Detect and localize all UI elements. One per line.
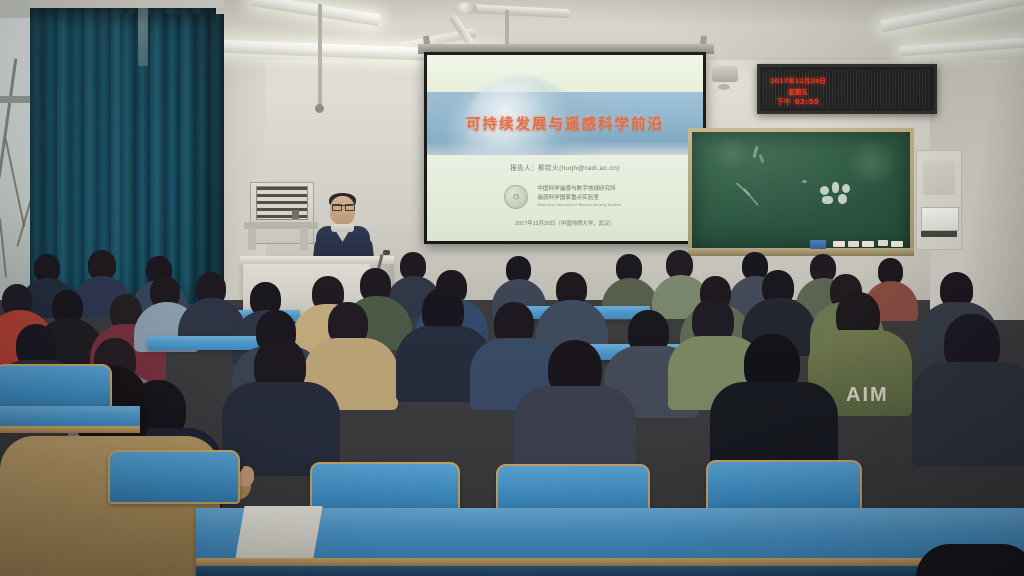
led-date-line: 2017年12月29日 — [767, 75, 829, 85]
led-time-line: 下午 03:59 — [767, 97, 829, 107]
conduit-knob — [315, 104, 324, 113]
speaker-collar — [331, 224, 354, 232]
wall-notice-poster — [916, 150, 962, 250]
classroom-chair — [0, 364, 112, 410]
blackboard — [688, 128, 914, 252]
glasses-icon — [138, 398, 168, 406]
smoke-detector-icon — [718, 84, 730, 90]
ac-bracket — [300, 228, 308, 250]
chalk-icon — [891, 241, 903, 247]
chalk-icon — [848, 241, 859, 247]
glasses-bridge-icon — [332, 205, 353, 210]
slide-org-line-en: State Key Laboratory of Remote Sensing S… — [537, 203, 697, 208]
wall-speaker-icon — [712, 66, 738, 82]
ac-grille-icon — [256, 186, 308, 220]
projection-screen: 可持续发展与遥感科学前沿 报告人：柳钦火(liuqh@radi.ac.cn) ⌬… — [424, 52, 706, 244]
blackboard-surface — [692, 132, 910, 248]
ceiling-fan-icon — [455, 2, 477, 15]
paper-sheet — [235, 506, 322, 558]
lecture-hall-photo: 可持续发展与遥感科学前沿 报告人：柳钦火(liuqh@radi.ac.cn) ⌬… — [0, 0, 1024, 576]
audience-area: AIM — [0, 248, 1024, 576]
student-desk — [148, 336, 268, 350]
slide-title: 可持续发展与遥感科学前沿 — [427, 113, 703, 134]
student-desk — [0, 406, 140, 428]
led-clock-sign: 2017年12月29日 星期五 下午 03:59 — [757, 64, 937, 114]
desk-edge — [0, 426, 140, 433]
curtain-rod — [28, 0, 224, 8]
ceiling-conduit — [318, 4, 322, 108]
poster-label — [921, 207, 959, 231]
jacket-text: AIM — [846, 384, 889, 407]
desk-apron — [196, 566, 1024, 576]
poster-footer-bar — [921, 231, 957, 237]
led-panel: 2017年12月29日 星期五 下午 03:59 — [763, 70, 931, 108]
projected-slide: 可持续发展与遥感科学前沿 报告人：柳钦火(liuqh@radi.ac.cn) ⌬… — [427, 55, 703, 241]
slide-organization: 中国科学遥感与数字地球研究所 遥感科学国家重点实验室 State Key Lab… — [537, 185, 697, 208]
audience-shoulders — [912, 362, 1024, 466]
ac-bracket — [248, 228, 256, 250]
ac-knob — [292, 210, 299, 219]
slide-presenter-line: 报告人：柳钦火(liuqh@radi.ac.cn) — [427, 162, 703, 172]
chalk-icon — [833, 241, 845, 247]
chalk-icon — [878, 240, 888, 246]
classroom-chair — [108, 450, 240, 504]
foreground-shoulders — [916, 544, 1024, 576]
slide-org-line-2: 遥感科学国家重点实验室 — [537, 194, 697, 203]
slide-org-line-1: 中国科学遥感与数字地球研究所 — [537, 185, 697, 194]
slide-date-line: 2017年12月29日（中国地质大学，武汉） — [427, 219, 703, 227]
poster-image — [923, 161, 955, 195]
slide-top-band — [427, 55, 703, 92]
chalk-icon — [862, 241, 874, 247]
led-weekday-line: 星期五 — [767, 86, 829, 96]
